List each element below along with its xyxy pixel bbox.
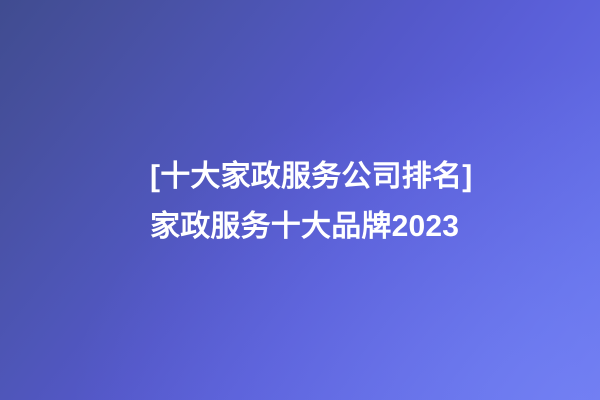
title-line-primary: [十大家政服务公司排名] xyxy=(150,152,570,202)
title-block: [十大家政服务公司排名] 家政服务十大品牌2023 xyxy=(150,152,570,252)
title-line-secondary: 家政服务十大品牌2023 xyxy=(150,202,570,252)
banner: [十大家政服务公司排名] 家政服务十大品牌2023 xyxy=(0,0,600,400)
